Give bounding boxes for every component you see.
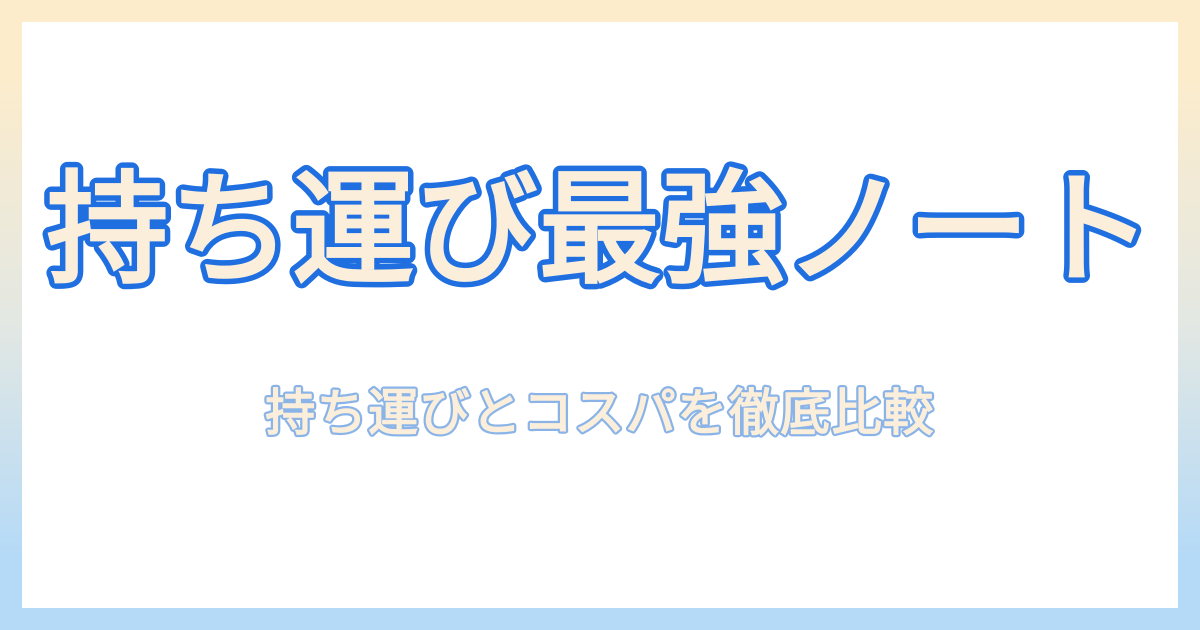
headline-svg: 持ち運び最強ノート 持ち運び最強ノート [22,168,1178,318]
page-subtitle: 持ち運びとコスパを徹底比較 [265,384,935,442]
text-stack: 持ち運び最強ノート 持ち運び最強ノート 持ち運びとコスパを徹底比較 持ち運びとコ… [22,168,1178,456]
inner-white-panel: 持ち運び最強ノート 持ち運び最強ノート 持ち運びとコスパを徹底比較 持ち運びとコ… [22,22,1178,608]
page-title: 持ち運び最強ノート [47,159,1154,301]
headline-container: 持ち運び最強ノート 持ち運び最強ノート [22,168,1178,318]
subtitle-svg: 持ち運びとコスパを徹底比較 持ち運びとコスパを徹底比較 [150,370,1050,456]
subtitle-container: 持ち運びとコスパを徹底比較 持ち運びとコスパを徹底比較 [22,370,1178,456]
ogp-title-card: 持ち運び最強ノート 持ち運び最強ノート 持ち運びとコスパを徹底比較 持ち運びとコ… [0,0,1200,630]
